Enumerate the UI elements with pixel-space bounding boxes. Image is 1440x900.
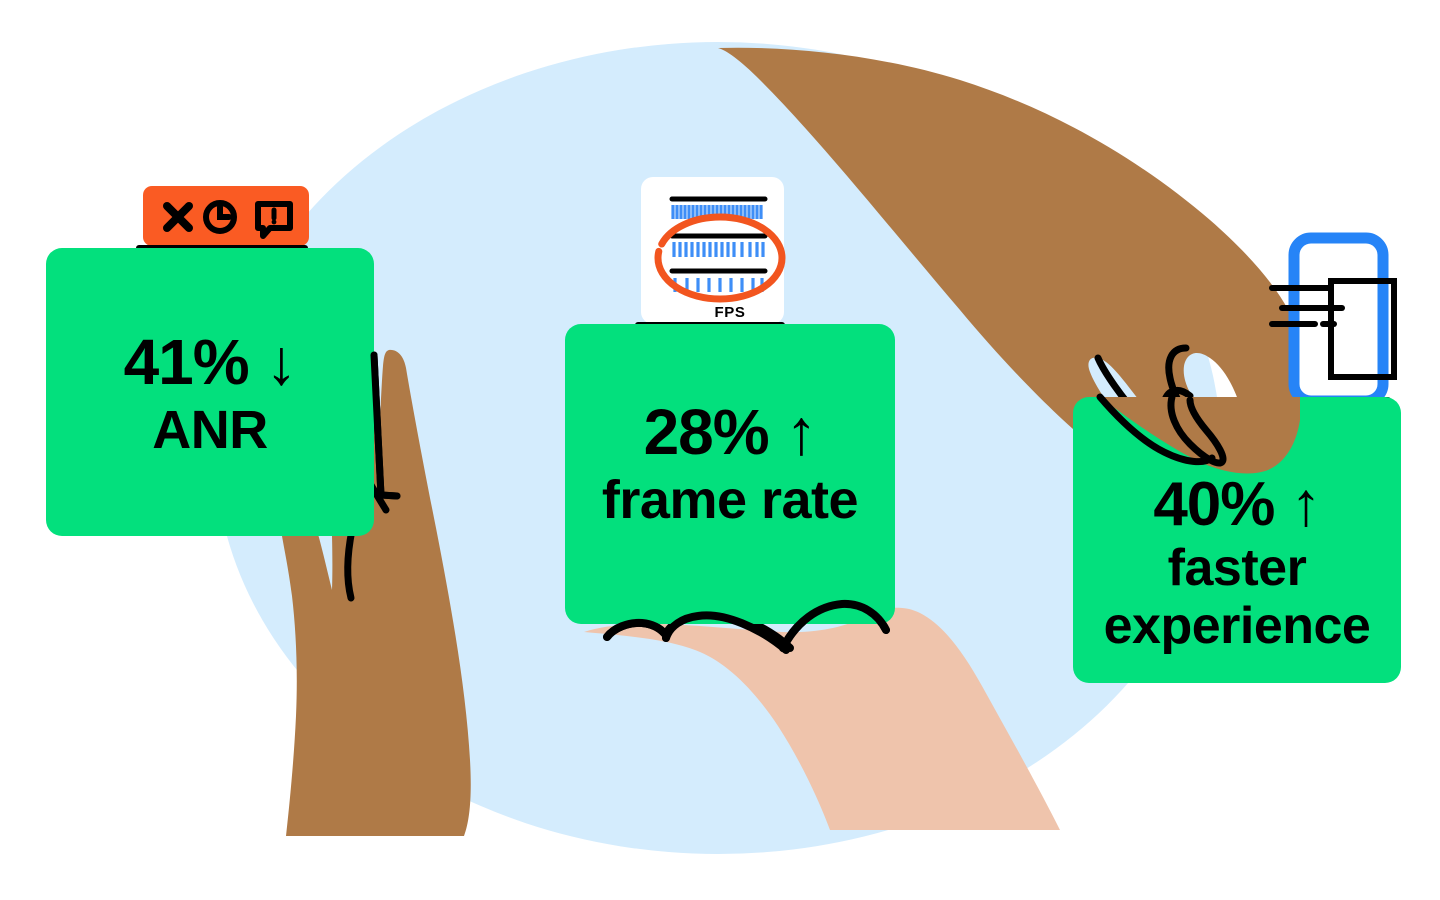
stat-card-frame-rate[interactable]: [565, 324, 895, 624]
phone-speed-icon: [1272, 238, 1394, 401]
fps-chart-card: [638, 177, 784, 325]
error-badge: [139, 186, 309, 248]
illustration-canvas: 41% ↓ ANR 28% ↑ frame rate 40% ↑ faster …: [0, 0, 1440, 900]
illustration-svg: [0, 0, 1440, 900]
stat-card-anr[interactable]: [46, 248, 374, 536]
